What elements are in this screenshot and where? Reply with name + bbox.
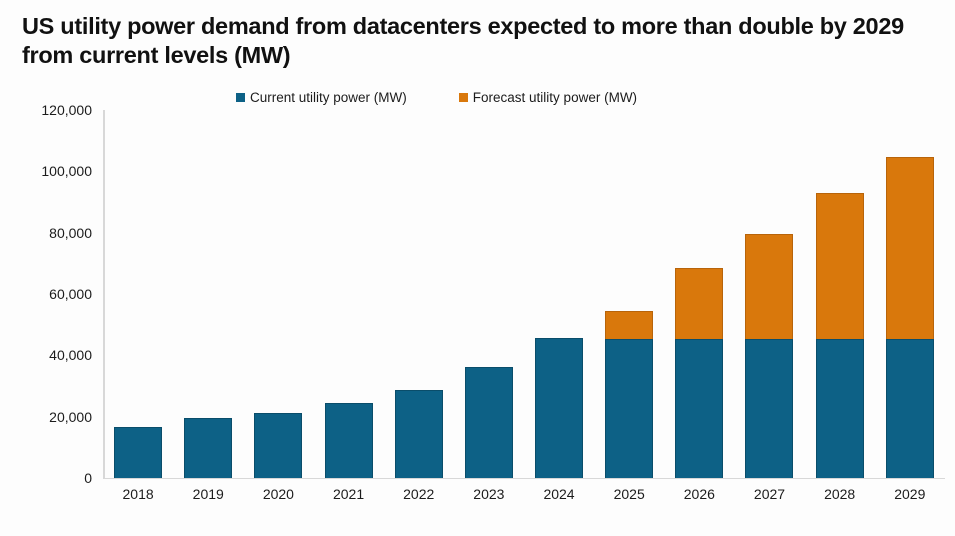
bar-segment-current[interactable] bbox=[114, 427, 162, 478]
x-axis-tick: 2021 bbox=[325, 486, 373, 502]
bar-segment-current[interactable] bbox=[395, 390, 443, 478]
bar-column[interactable] bbox=[745, 110, 793, 478]
x-axis-tick: 2029 bbox=[886, 486, 934, 502]
y-axis-tick: 80,000 bbox=[2, 225, 92, 241]
y-axis-tick: 100,000 bbox=[2, 163, 92, 179]
bar-stack bbox=[395, 390, 443, 478]
bar-stack bbox=[535, 338, 583, 478]
x-axis-labels: 2018201920202021202220232024202520262027… bbox=[103, 486, 945, 502]
bar-stack bbox=[254, 413, 302, 478]
bar-column[interactable] bbox=[325, 110, 373, 478]
x-axis-tick: 2020 bbox=[254, 486, 302, 502]
bar-stack bbox=[745, 234, 793, 478]
bar-segment-forecast[interactable] bbox=[816, 193, 864, 339]
y-axis-tick: 40,000 bbox=[2, 347, 92, 363]
bar-stack bbox=[816, 193, 864, 478]
bar-segment-current[interactable] bbox=[254, 413, 302, 478]
bar-column[interactable] bbox=[675, 110, 723, 478]
y-axis-labels: 120,000 100,000 80,000 60,000 40,000 20,… bbox=[0, 110, 92, 478]
bar-segment-forecast[interactable] bbox=[675, 268, 723, 339]
bar-segment-forecast[interactable] bbox=[605, 311, 653, 339]
square-marker-icon bbox=[236, 93, 245, 102]
legend-item-current[interactable]: Current utility power (MW) bbox=[236, 90, 407, 105]
x-axis-tick: 2024 bbox=[535, 486, 583, 502]
square-marker-icon bbox=[459, 93, 468, 102]
bar-column[interactable] bbox=[114, 110, 162, 478]
bar-segment-current[interactable] bbox=[605, 339, 653, 478]
y-axis-tick: 120,000 bbox=[2, 102, 92, 118]
bar-column[interactable] bbox=[465, 110, 513, 478]
bar-stack bbox=[886, 157, 934, 478]
bar-segment-forecast[interactable] bbox=[886, 157, 934, 339]
y-axis-tick: 60,000 bbox=[2, 286, 92, 302]
x-axis-tick: 2027 bbox=[745, 486, 793, 502]
x-axis-tick: 2022 bbox=[395, 486, 443, 502]
bar-stack bbox=[325, 403, 373, 478]
bar-segment-current[interactable] bbox=[675, 339, 723, 478]
x-axis-tick: 2018 bbox=[114, 486, 162, 502]
bar-segment-current[interactable] bbox=[465, 367, 513, 478]
legend-label-forecast: Forecast utility power (MW) bbox=[473, 90, 637, 105]
bar-column[interactable] bbox=[395, 110, 443, 478]
bar-column[interactable] bbox=[535, 110, 583, 478]
bar-segment-current[interactable] bbox=[535, 338, 583, 478]
bar-stack bbox=[605, 311, 653, 478]
bar-segment-current[interactable] bbox=[745, 339, 793, 478]
y-axis-tick: 0 bbox=[2, 470, 92, 486]
bar-segment-current[interactable] bbox=[325, 403, 373, 478]
bar-column[interactable] bbox=[816, 110, 864, 478]
bar-stack bbox=[184, 418, 232, 478]
chart-title: US utility power demand from datacenters… bbox=[22, 12, 932, 69]
bar-column[interactable] bbox=[605, 110, 653, 478]
bar-stack bbox=[114, 427, 162, 478]
legend-item-forecast[interactable]: Forecast utility power (MW) bbox=[459, 90, 637, 105]
bar-segment-current[interactable] bbox=[816, 339, 864, 478]
bar-segment-forecast[interactable] bbox=[745, 234, 793, 339]
x-axis-tick: 2028 bbox=[816, 486, 864, 502]
bar-column[interactable] bbox=[254, 110, 302, 478]
x-axis-tick: 2023 bbox=[465, 486, 513, 502]
bar-segment-current[interactable] bbox=[886, 339, 934, 478]
x-axis-tick: 2019 bbox=[184, 486, 232, 502]
bar-column[interactable] bbox=[184, 110, 232, 478]
bar-stack bbox=[675, 268, 723, 478]
y-axis-tick: 20,000 bbox=[2, 409, 92, 425]
bar-group bbox=[103, 110, 945, 478]
x-axis-tick: 2025 bbox=[605, 486, 653, 502]
bar-segment-current[interactable] bbox=[184, 418, 232, 478]
chart-legend: Current utility power (MW) Forecast util… bbox=[236, 90, 637, 105]
plot-area bbox=[103, 110, 945, 478]
chart-container: US utility power demand from datacenters… bbox=[0, 0, 955, 536]
legend-label-current: Current utility power (MW) bbox=[250, 90, 407, 105]
bar-stack bbox=[465, 367, 513, 478]
x-axis-tick: 2026 bbox=[675, 486, 723, 502]
bar-column[interactable] bbox=[886, 110, 934, 478]
